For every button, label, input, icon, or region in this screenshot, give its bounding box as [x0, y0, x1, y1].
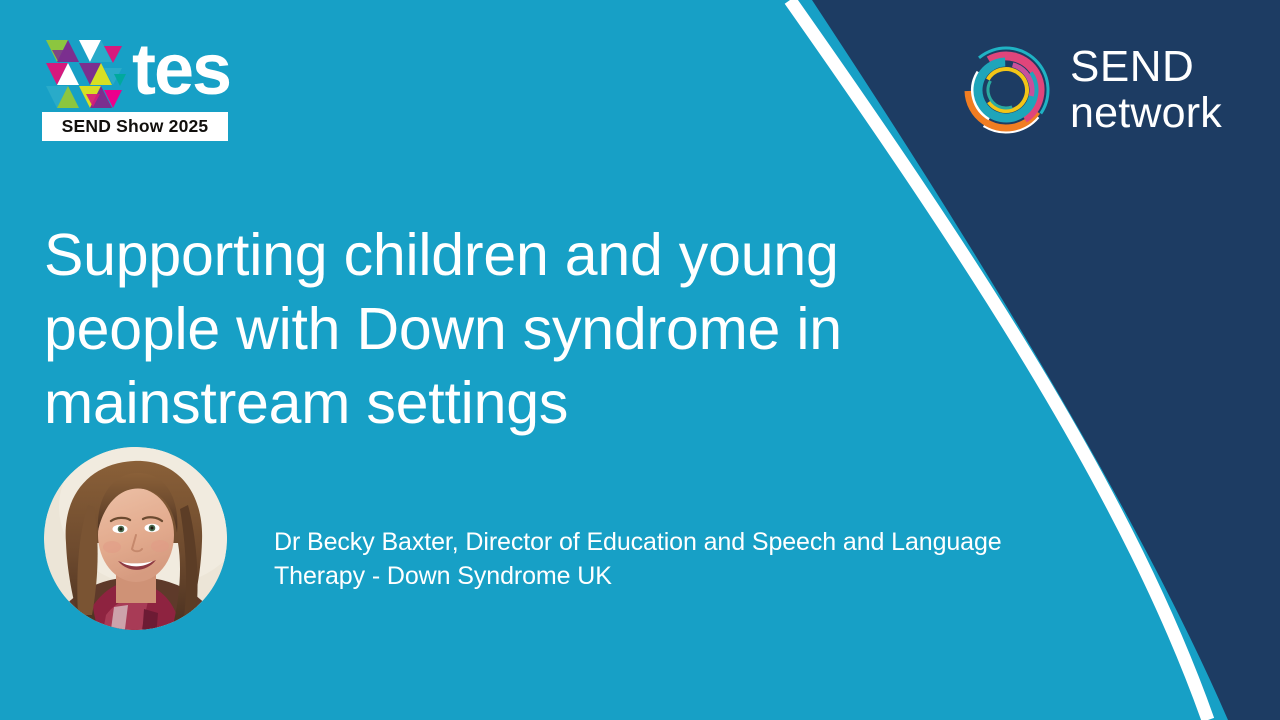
send-word: SEND — [1070, 45, 1222, 89]
avatar — [44, 447, 227, 630]
page-title: Supporting children and young people wit… — [44, 218, 874, 440]
send-show-badge-label: SEND Show 2025 — [62, 116, 209, 137]
portrait-photo — [44, 447, 227, 630]
presentation-slide: tes SEND Show 2025 — [0, 0, 1280, 720]
tes-logo: tes SEND Show 2025 — [42, 36, 234, 142]
triangle-mosaic-icon — [42, 36, 128, 116]
concentric-rings-icon — [960, 44, 1052, 136]
tes-wordmark: tes — [132, 30, 236, 114]
send-network-logo: SEND network — [960, 38, 1222, 142]
network-word: network — [1070, 92, 1222, 135]
send-network-wordmark: SEND network — [1070, 45, 1222, 135]
speaker-caption: Dr Becky Baxter, Director of Education a… — [274, 525, 1064, 593]
svg-text:tes: tes — [132, 30, 230, 110]
send-show-badge: SEND Show 2025 — [42, 112, 228, 141]
